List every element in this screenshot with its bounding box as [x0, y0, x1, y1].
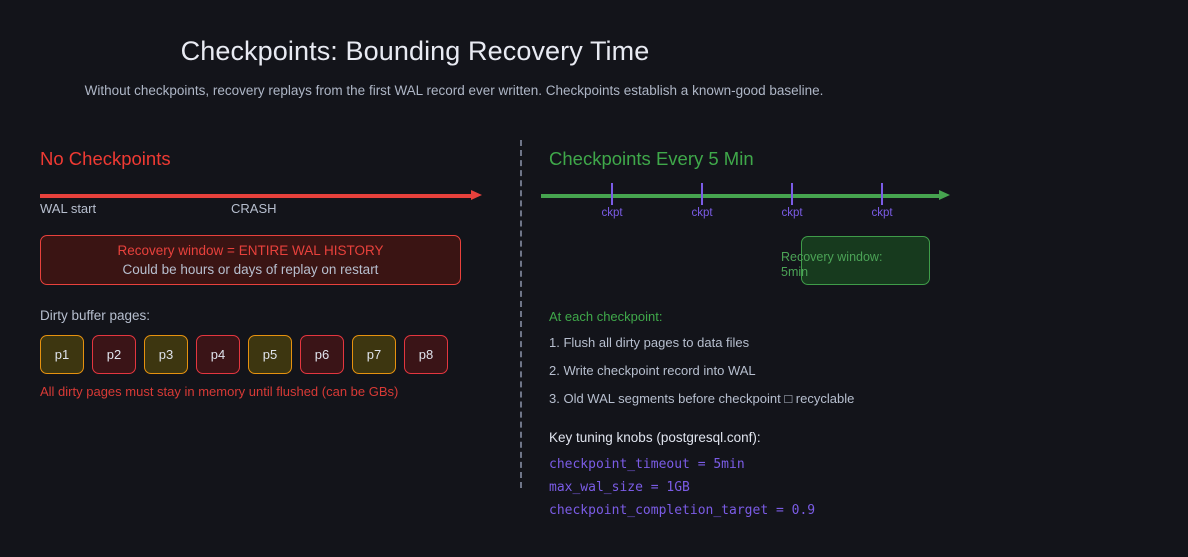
checkpoint-step-2: 2. Write checkpoint record into WAL [549, 363, 756, 378]
right-panel-heading: Checkpoints Every 5 Min [549, 148, 754, 170]
timeline-arrowhead-icon [471, 190, 482, 200]
checkpoint-tick [791, 183, 794, 205]
tuning-knobs-title: Key tuning knobs (postgresql.conf): [549, 430, 761, 445]
dirty-page-box: p2 [92, 335, 136, 374]
dirty-page-box: p6 [300, 335, 344, 374]
checkpoint-steps-title: At each checkpoint: [549, 309, 662, 324]
dirty-page-list: p1p2p3p4p5p6p7p8 [40, 335, 448, 374]
checkpoint-tick-label: ckpt [691, 207, 712, 219]
checkpoint-tick-label: ckpt [871, 207, 892, 219]
callout-line-secondary: Could be hours or days of replay on rest… [123, 260, 379, 279]
dirty-page-box: p1 [40, 335, 84, 374]
config-line-max-wal-size: max_wal_size = 1GB [549, 480, 690, 495]
config-line-completion-target: checkpoint_completion_target = 0.9 [549, 503, 815, 518]
checkpoint-step-3: 3. Old WAL segments before checkpoint □ … [549, 391, 854, 406]
checkpoint-tick [701, 183, 704, 205]
left-panel-heading: No Checkpoints [40, 148, 171, 170]
checkpoint-tick [881, 183, 884, 205]
timeline-bar [40, 194, 472, 198]
wal-timeline-no-checkpoints [40, 192, 482, 199]
checkpoint-tick-label: ckpt [781, 207, 802, 219]
checkpoint-tick [611, 183, 614, 205]
config-line-checkpoint-timeout: checkpoint_timeout = 5min [549, 457, 745, 472]
dirty-page-box: p7 [352, 335, 396, 374]
panel-divider [520, 140, 522, 488]
page-title: Checkpoints: Bounding Recovery Time [0, 36, 830, 67]
timeline-arrowhead-icon [939, 190, 950, 200]
recovery-window-callout-right-text: Recovery window: 5min [781, 250, 909, 280]
wal-timeline-with-checkpoints [541, 192, 950, 199]
page-subtitle: Without checkpoints, recovery replays fr… [0, 83, 908, 98]
recovery-window-callout-left: Recovery window = ENTIRE WAL HISTORY Cou… [40, 235, 461, 285]
dirty-page-box: p3 [144, 335, 188, 374]
checkpoint-tick-label: ckpt [601, 207, 622, 219]
checkpoint-step-1: 1. Flush all dirty pages to data files [549, 335, 749, 350]
dirty-pages-warning: All dirty pages must stay in memory unti… [40, 384, 398, 399]
callout-line-primary: Recovery window = ENTIRE WAL HISTORY [118, 241, 384, 260]
timeline-label-wal-start: WAL start [40, 201, 96, 216]
dirty-buffer-pages-label: Dirty buffer pages: [40, 308, 150, 323]
timeline-label-crash: CRASH [231, 201, 277, 216]
dirty-page-box: p4 [196, 335, 240, 374]
slide-canvas: Checkpoints: Bounding Recovery Time With… [0, 0, 1188, 557]
dirty-page-box: p5 [248, 335, 292, 374]
dirty-page-box: p8 [404, 335, 448, 374]
